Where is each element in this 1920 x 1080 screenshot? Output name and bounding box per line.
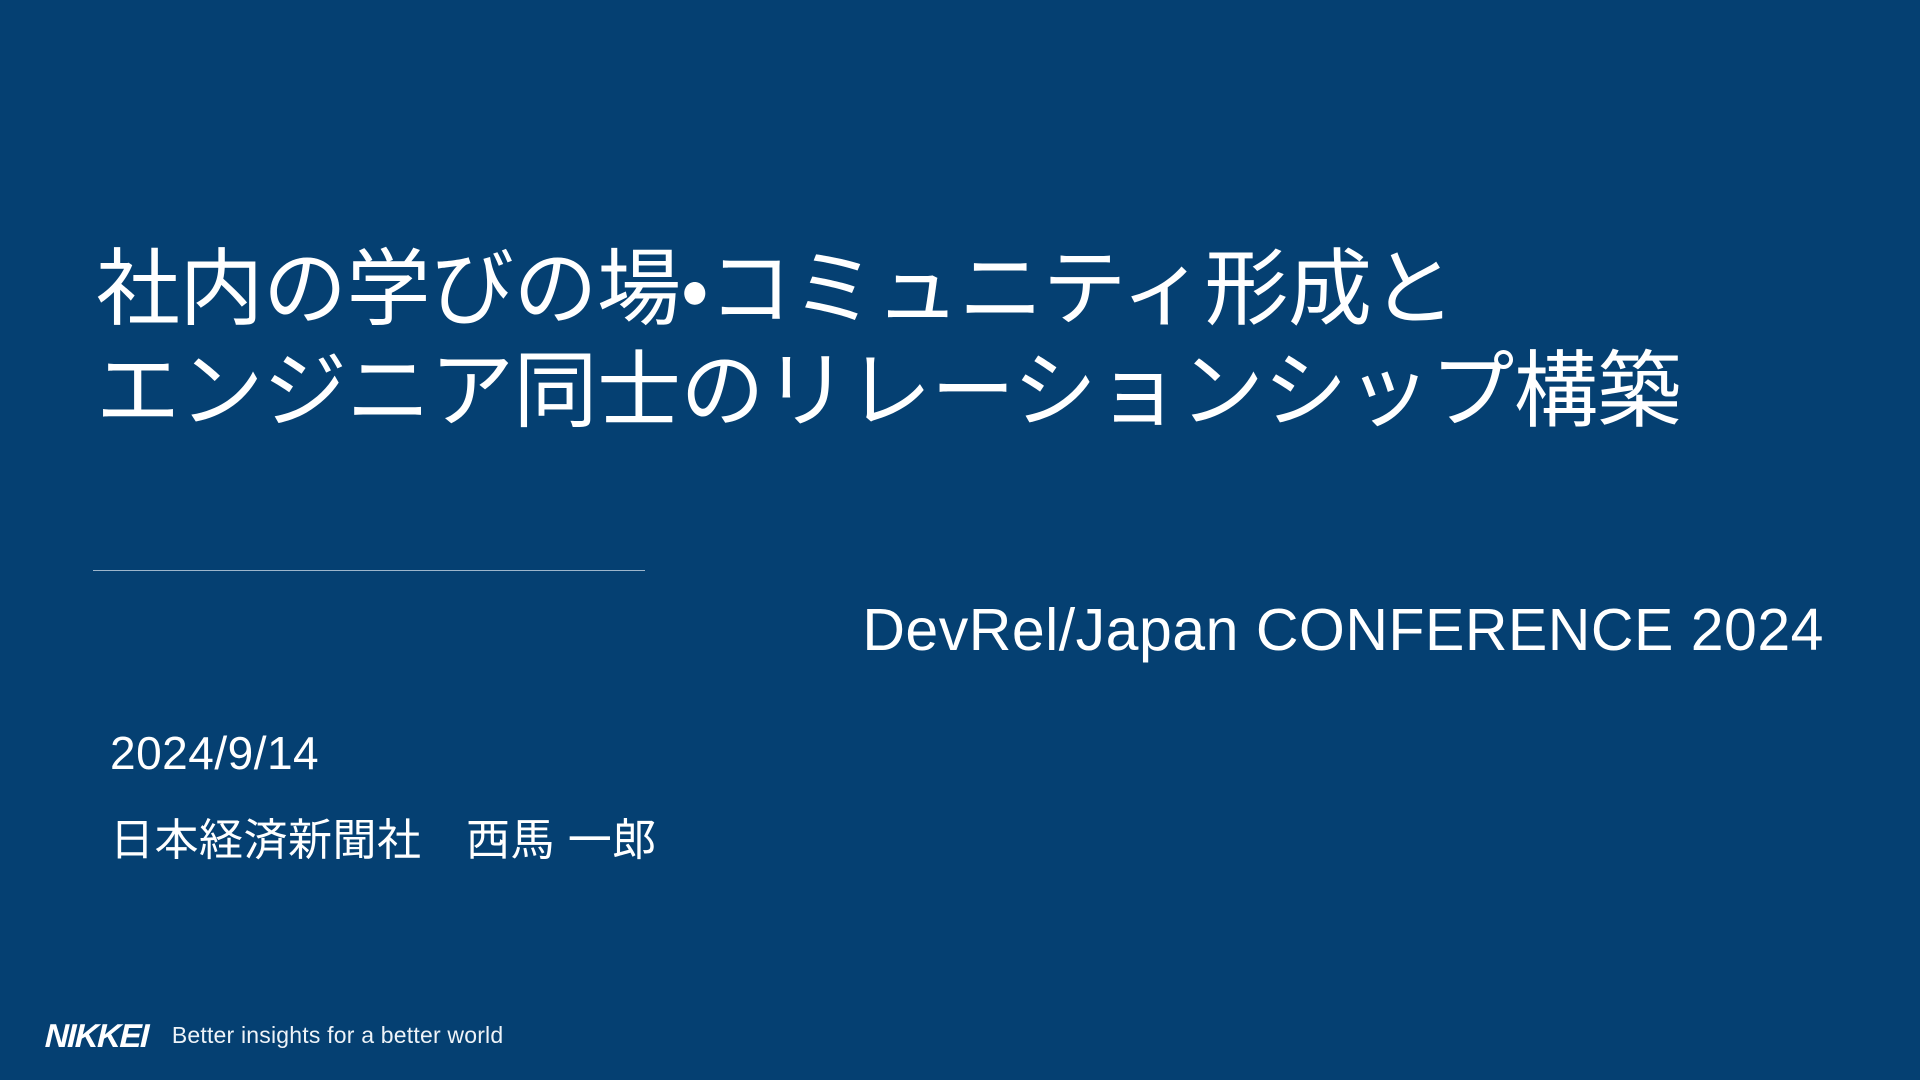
nikkei-logo: NIKKEI bbox=[44, 1019, 148, 1052]
slide-title: 社内の学びの場・コミュニティ形成と エンジニア同士のリレーションシップ構築 bbox=[96, 238, 1856, 443]
brand-footer: NIKKEI Better insights for a better worl… bbox=[45, 1019, 503, 1052]
slide-subtitle: DevRel/Japan CONFERENCE 2024 bbox=[862, 598, 1824, 663]
slide-meta: 2024/9/14 日本経済新聞社 西馬 一郎 bbox=[110, 728, 657, 865]
brand-tagline: Better insights for a better world bbox=[172, 1024, 504, 1047]
title-line-1: 社内の学びの場・コミュニティ形成と bbox=[96, 238, 1856, 340]
title-slide: 社内の学びの場・コミュニティ形成と エンジニア同士のリレーションシップ構築 De… bbox=[0, 0, 1920, 1080]
presentation-date: 2024/9/14 bbox=[110, 728, 657, 779]
title-line-2: エンジニア同士のリレーションシップ構築 bbox=[96, 340, 1856, 442]
presenter-affiliation-and-name: 日本経済新聞社 西馬 一郎 bbox=[110, 817, 657, 865]
title-divider-rule bbox=[93, 570, 645, 571]
